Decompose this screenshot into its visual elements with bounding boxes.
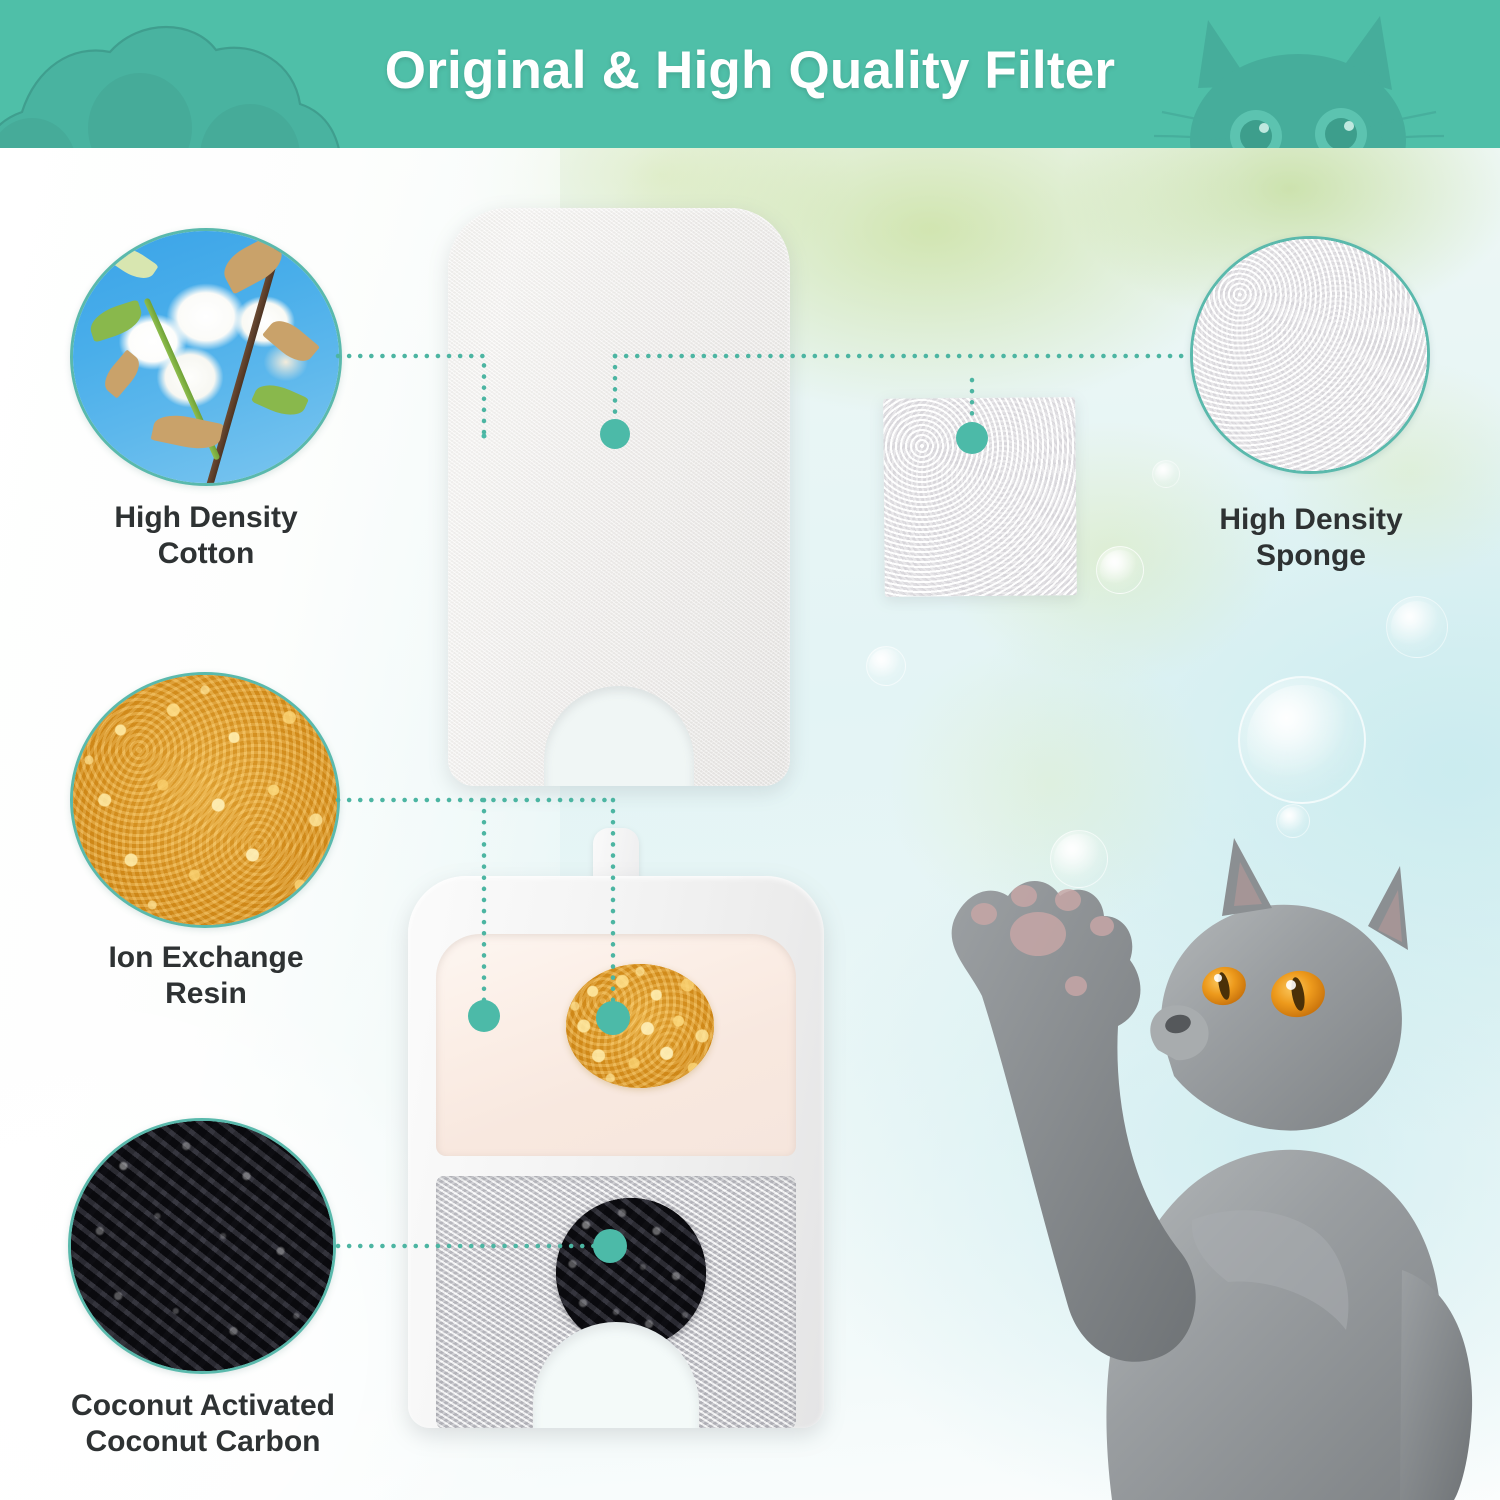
swatch-resin[interactable] [70, 672, 340, 928]
resin-texture [566, 964, 714, 1088]
swatch-label-carbon: Coconut Activated Coconut Carbon [20, 1388, 386, 1460]
swatch-cotton[interactable] [70, 228, 342, 486]
cotton-boll-photo [73, 231, 339, 483]
cartridge-body [408, 876, 824, 1428]
swatch-carbon[interactable] [68, 1118, 336, 1374]
label-line-2: Sponge [1140, 538, 1482, 574]
label-line-1: Coconut Activated [20, 1388, 386, 1424]
page-title: Original & High Quality Filter [0, 0, 1500, 148]
activated-carbon-photo [71, 1121, 333, 1371]
swatch-sponge[interactable] [1190, 236, 1430, 474]
resin-sample-circle [566, 964, 714, 1088]
label-line-2: Coconut Carbon [20, 1424, 386, 1460]
label-line-1: High Density [1140, 502, 1482, 538]
ion-exchange-resin-photo [73, 675, 337, 925]
infographic-canvas: Original & High Quality Filter [0, 0, 1500, 1500]
header-banner: Original & High Quality Filter [0, 0, 1500, 148]
label-line-1: Ion Exchange [40, 940, 372, 976]
sponge-texture [883, 397, 1077, 597]
label-line-2: Resin [40, 976, 372, 1012]
sponge-filter-square [883, 397, 1077, 597]
cartridge-upper-chamber [436, 934, 796, 1156]
swatch-label-cotton: High Density Cotton [40, 500, 372, 572]
sponge-foam-photo [1193, 239, 1427, 471]
swatch-label-resin: Ion Exchange Resin [40, 940, 372, 1012]
cotton-filter-pad [448, 208, 790, 786]
label-line-2: Cotton [40, 536, 372, 572]
label-line-1: High Density [40, 500, 372, 536]
cat-photo [862, 800, 1500, 1500]
swatch-label-sponge: High Density Sponge [1140, 502, 1482, 574]
filter-cartridge [408, 828, 824, 1428]
